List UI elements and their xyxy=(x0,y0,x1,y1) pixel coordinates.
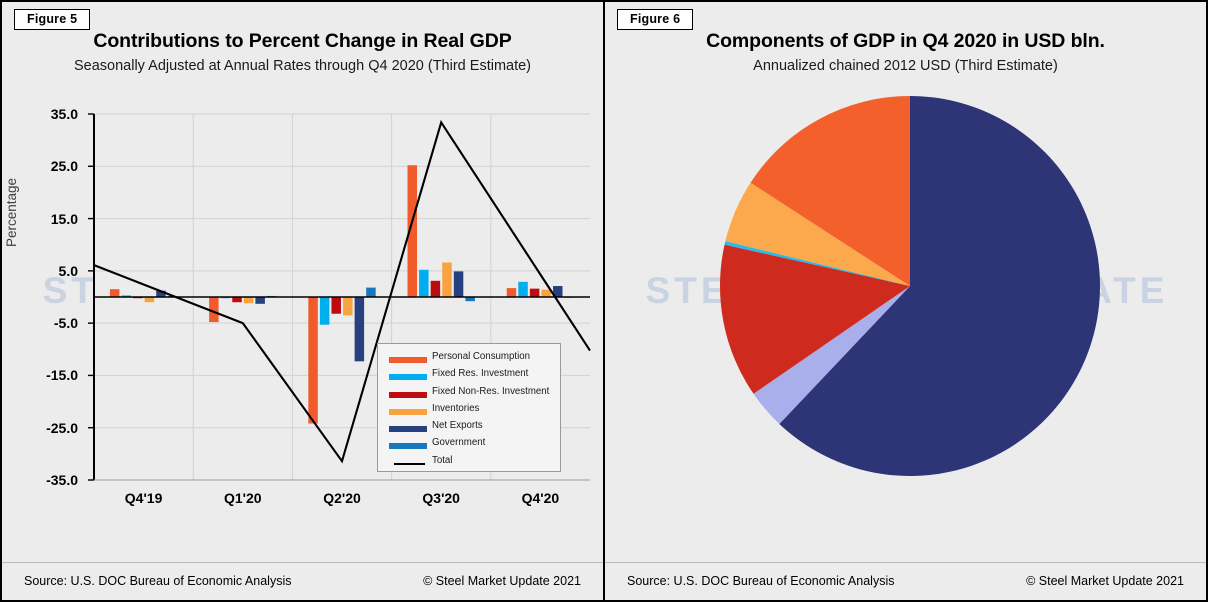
legend-swatch-icon xyxy=(389,409,427,415)
legend-label: Fixed Res. Investment xyxy=(432,368,528,379)
x-axis-tick: Q3'20 xyxy=(392,490,491,506)
bar-Q320-1 xyxy=(419,270,428,297)
bar-Q220-2 xyxy=(331,297,340,314)
dual-chart-board: STEEL MARKET UPDATE part of the CRU Grou… xyxy=(0,0,1208,602)
bar-chart-legend: Personal ConsumptionFixed Res. Investmen… xyxy=(377,343,561,472)
source-text-right: Source: U.S. DOC Bureau of Economic Anal… xyxy=(627,574,894,588)
y-axis-tick: -25.0 xyxy=(16,420,78,436)
legend-label: Personal Consumption xyxy=(432,351,530,362)
source-text-left: Source: U.S. DOC Bureau of Economic Anal… xyxy=(24,574,291,588)
panel-figure-5: STEEL MARKET UPDATE part of the CRU Grou… xyxy=(0,0,604,602)
x-axis-tick: Q4'19 xyxy=(94,490,193,506)
bar-Q420-3 xyxy=(541,290,550,297)
legend-item-total[interactable]: Total xyxy=(378,455,560,472)
bar-Q320-4 xyxy=(454,271,463,297)
legend-swatch-icon xyxy=(389,443,427,449)
bar-Q220-4 xyxy=(355,297,364,361)
legend-item-inventories[interactable]: Inventories xyxy=(378,403,560,420)
y-axis-tick: -15.0 xyxy=(16,367,78,383)
legend-item-personal-consumption[interactable]: Personal Consumption xyxy=(378,351,560,368)
panel-figure-6: STEEL MARKET UPDATE part of the CRU Grou… xyxy=(604,0,1208,602)
y-axis-tick: 25.0 xyxy=(16,158,78,174)
legend-label: Net Exports xyxy=(432,420,483,431)
bar-Q420-0 xyxy=(507,288,516,297)
legend-label: Government xyxy=(432,437,485,448)
y-axis-tick: -35.0 xyxy=(16,472,78,488)
bar-Q420-1 xyxy=(518,282,527,297)
page-subtitle-right: Annualized chained 2012 USD (Third Estim… xyxy=(605,58,1206,74)
y-axis-tick: 15.0 xyxy=(16,211,78,227)
bar-Q420-2 xyxy=(530,289,539,297)
legend-label: Total xyxy=(432,455,452,466)
bar-Q220-1 xyxy=(320,297,329,325)
figure-tag-6: Figure 6 xyxy=(617,9,693,30)
page-title-right: Components of GDP in Q4 2020 in USD bln. xyxy=(605,30,1206,53)
bar-Q120-3 xyxy=(244,297,253,303)
footer-right: Source: U.S. DOC Bureau of Economic Anal… xyxy=(605,562,1206,600)
legend-item-fixed-res-investment[interactable]: Fixed Res. Investment xyxy=(378,368,560,385)
legend-item-net-exports[interactable]: Net Exports xyxy=(378,420,560,437)
legend-item-fixed-non-res-investment[interactable]: Fixed Non-Res. Investment xyxy=(378,386,560,403)
y-axis-tick: 5.0 xyxy=(16,263,78,279)
legend-swatch-icon xyxy=(389,357,427,363)
legend-swatch-icon xyxy=(389,426,427,432)
bar-Q320-3 xyxy=(442,262,451,297)
bar-Q220-3 xyxy=(343,297,352,315)
legend-item-government[interactable]: Government xyxy=(378,437,560,454)
bar-Q220-5 xyxy=(366,288,375,297)
bar-Q419-0 xyxy=(110,289,119,297)
legend-label: Inventories xyxy=(432,403,479,414)
footer-left: Source: U.S. DOC Bureau of Economic Anal… xyxy=(2,562,603,600)
y-axis-tick: -5.0 xyxy=(16,315,78,331)
bar-Q320-2 xyxy=(431,281,440,297)
y-axis-tick: 35.0 xyxy=(16,106,78,122)
pie-chart-canvas xyxy=(605,90,1208,510)
copyright-text-right: © Steel Market Update 2021 xyxy=(1026,574,1184,588)
bar-Q220-0 xyxy=(308,297,317,424)
legend-swatch-icon xyxy=(389,374,427,380)
x-axis-tick: Q2'20 xyxy=(292,490,391,506)
copyright-text-left: © Steel Market Update 2021 xyxy=(423,574,581,588)
legend-swatch-icon xyxy=(389,392,427,398)
x-axis-tick: Q4'20 xyxy=(491,490,590,506)
legend-label: Fixed Non-Res. Investment xyxy=(432,386,549,397)
legend-swatch-icon xyxy=(394,463,425,465)
bar-Q120-4 xyxy=(255,297,264,304)
x-axis-tick: Q1'20 xyxy=(193,490,292,506)
